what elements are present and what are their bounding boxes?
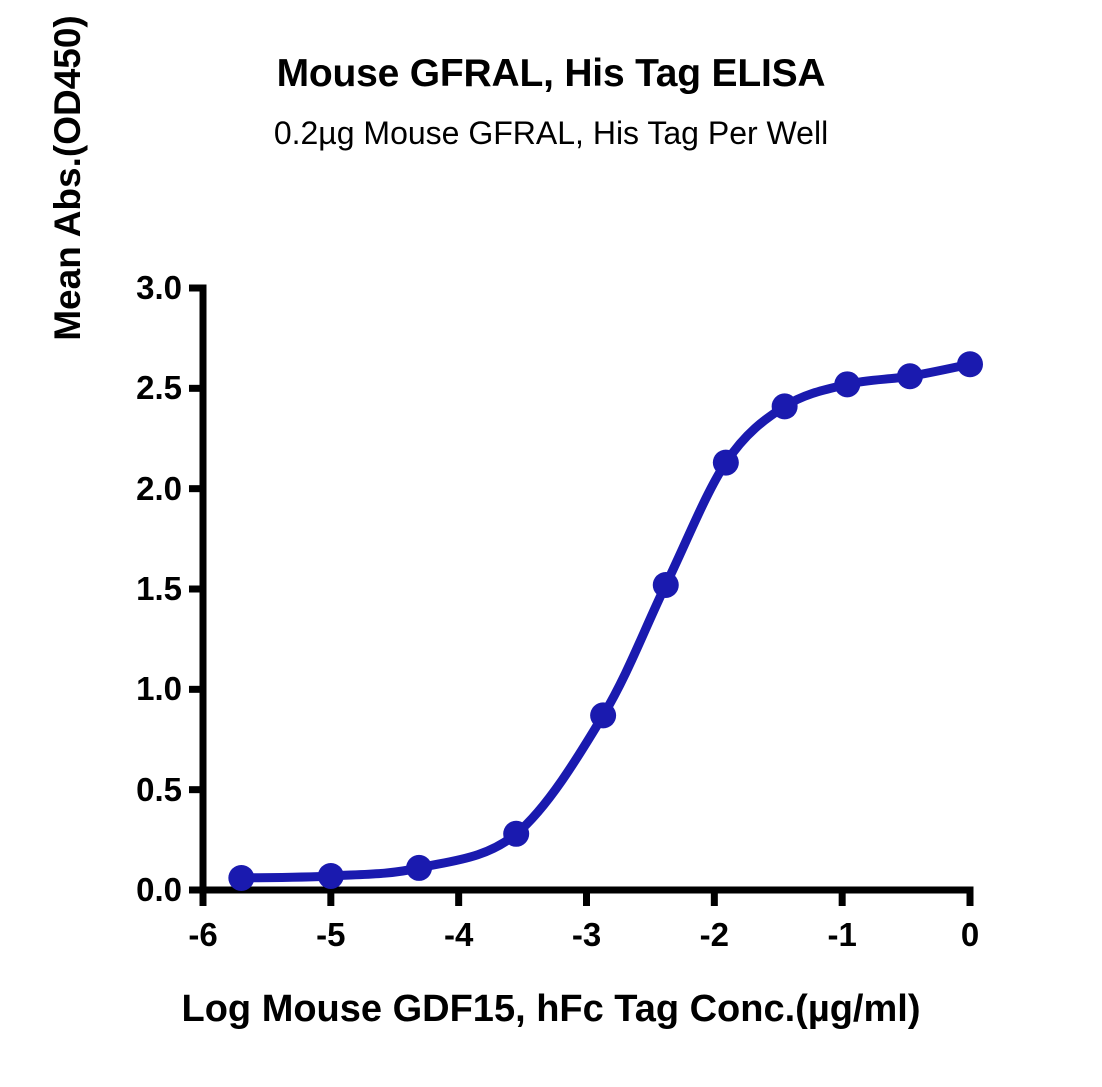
series-markers [228, 351, 983, 891]
data-point-marker [318, 863, 344, 889]
data-point-marker [897, 363, 923, 389]
data-point-marker [503, 821, 529, 847]
data-point-marker [834, 371, 860, 397]
data-point-marker [957, 351, 983, 377]
data-point-marker [772, 393, 798, 419]
data-point-marker [713, 450, 739, 476]
plot-area [0, 0, 1102, 1087]
data-point-marker [653, 572, 679, 598]
data-point-marker [228, 865, 254, 891]
series-curve [241, 364, 970, 878]
elisa-chart-figure: Mouse GFRAL, His Tag ELISA 0.2µg Mouse G… [0, 0, 1102, 1087]
data-point-marker [590, 702, 616, 728]
data-point-marker [406, 855, 432, 881]
axis-spines [200, 285, 974, 891]
curve-line-0 [241, 364, 970, 878]
